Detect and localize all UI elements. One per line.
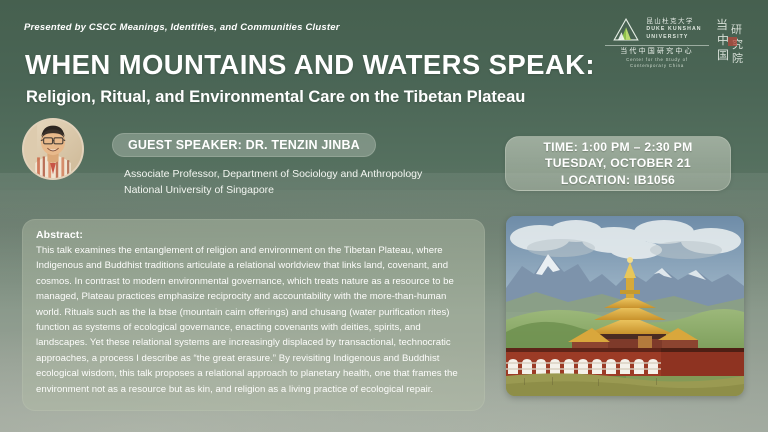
university-name-en-line1: DUKE KUNSHAN [646,26,701,33]
speaker-affiliation: Associate Professor, Department of Socio… [124,166,422,198]
event-time: TIME: 1:00 PM – 2:30 PM [543,139,692,156]
chinese-calligraphy-seal-icon: 当 研 中 究 国 院 [714,17,748,63]
tibetan-monastery-illustration [506,216,744,396]
center-name-en-line2: Contemporary China [630,63,684,69]
abstract-heading: Abstract: [36,229,471,241]
svg-text:国: 国 [717,48,729,62]
poster-subtitle: Religion, Ritual, and Environmental Care… [26,89,525,106]
event-date: TUESDAY, OCTOBER 21 [545,155,691,172]
university-name-cn: 昆山杜克大学 [646,19,701,26]
center-name-cn: 当代中国研究中心 [620,48,694,56]
svg-text:研: 研 [731,23,742,36]
svg-text:当: 当 [716,18,728,32]
logo-divider [605,45,709,46]
speaker-affiliation-line1: Associate Professor, Department of Socio… [124,166,422,182]
portrait-photo [24,120,82,178]
event-poster: Presented by CSCC Meanings, Identities, … [0,0,768,432]
svg-text:中: 中 [717,32,729,47]
logo-lockup: 昆山杜克大学 DUKE KUNSHAN UNIVERSITY 当代中国研究中心 … [605,17,748,69]
poster-title: WHEN MOUNTAINS AND WATERS SPEAK: [25,51,595,79]
speaker-affiliation-line2: National University of Singapore [124,182,422,198]
svg-text:院: 院 [732,51,743,63]
event-details-box: TIME: 1:00 PM – 2:30 PM TUESDAY, OCTOBER… [505,136,731,191]
university-name-en-line2: UNIVERSITY [646,34,701,41]
duke-kunshan-mountain-icon [612,17,640,42]
event-location: LOCATION: IB1056 [561,172,675,189]
dku-cscc-logo: 昆山杜克大学 DUKE KUNSHAN UNIVERSITY 当代中国研究中心 … [605,17,709,69]
presented-by-line: Presented by CSCC Meanings, Identities, … [24,22,340,33]
abstract-body: This talk examines the entanglement of r… [36,243,471,397]
abstract-panel: Abstract: This talk examines the entangl… [22,219,485,411]
center-name-en-line1: Center for the Study of [626,57,688,63]
speaker-avatar [22,118,84,180]
guest-speaker-badge: GUEST SPEAKER: DR. TENZIN JINBA [112,133,376,157]
monastery-photo [506,216,744,396]
